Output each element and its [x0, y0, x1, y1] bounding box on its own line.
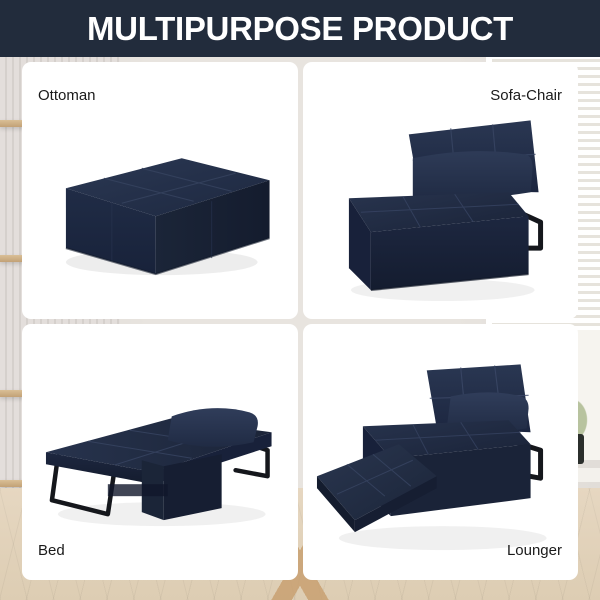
panel-label-bed: Bed: [38, 543, 65, 558]
panel-lounger[interactable]: Lounger: [303, 324, 579, 581]
page-title: MULTIPURPOSE PRODUCT: [87, 12, 513, 45]
panel-ottoman[interactable]: Ottoman: [22, 62, 298, 319]
panel-label-lounger: Lounger: [507, 543, 562, 558]
product-infographic: MULTIPURPOSE PRODUCT: [0, 0, 600, 600]
panel-label-sofa-chair: Sofa-Chair: [490, 88, 562, 103]
header-banner: MULTIPURPOSE PRODUCT: [0, 0, 600, 57]
panel-sofa-chair[interactable]: Sofa-Chair: [303, 62, 579, 319]
panel-grid: Ottoman: [22, 62, 578, 580]
panel-bed[interactable]: Bed: [22, 324, 298, 581]
panel-label-ottoman: Ottoman: [38, 88, 96, 103]
